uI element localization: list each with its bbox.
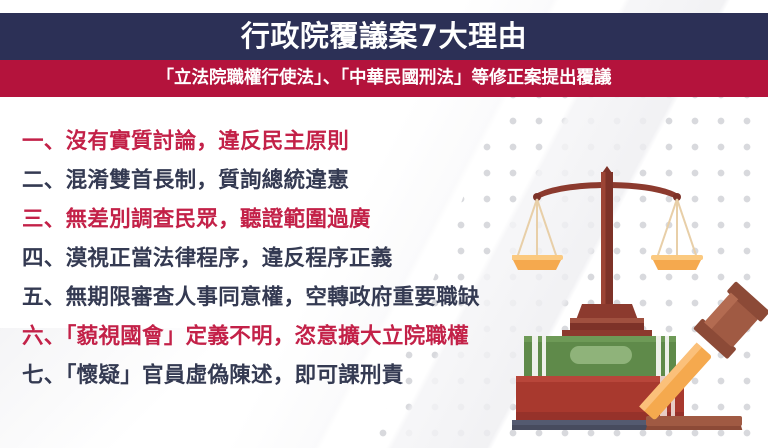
reasons-list: 一、沒有實質討論，違反民主原則 二、混淆雙首長制，質詢總統違憲 三、無差別調查民… (22, 122, 602, 395)
list-item: 五、無期限審查人事同意權，空轉政府重要職缺 (22, 278, 602, 317)
title-band: 行政院覆議案7大理由 (0, 13, 768, 60)
list-item: 七、「懷疑」官員虛偽陳述，即可課刑責 (22, 356, 602, 395)
reason-item-3-text: 三、無差別調查民眾，聽證範圍過廣 (22, 209, 371, 231)
infographic-root: 行政院覆議案7大理由 「立法院職權行使法」、「中華民國刑法」等修正案提出覆議 一… (0, 0, 768, 448)
list-item: 四、漠視正當法律程序，違反程序正義 (22, 239, 602, 278)
reason-item-7-text: 七、「懷疑」官員虛偽陳述，即可課刑責 (22, 365, 404, 387)
page-subtitle: 「立法院職權行使法」、「中華民國刑法」等修正案提出覆議 (157, 70, 612, 88)
subtitle-band: 「立法院職權行使法」、「中華民國刑法」等修正案提出覆議 (0, 60, 768, 97)
page-title: 行政院覆議案7大理由 (241, 22, 527, 51)
reason-item-6-text: 六、「藐視國會」定義不明，恣意擴大立院職權 (22, 326, 469, 348)
reason-item-2-text: 二、混淆雙首長制，質詢總統違憲 (22, 170, 349, 192)
list-item: 一、沒有實質討論，違反民主原則 (22, 122, 602, 161)
reason-item-1-text: 一、沒有實質討論，違反民主原則 (22, 131, 349, 153)
reason-item-5-text: 五、無期限審查人事同意權，空轉政府重要職缺 (22, 287, 480, 309)
list-item: 六、「藐視國會」定義不明，恣意擴大立院職權 (22, 317, 602, 356)
reason-item-4-text: 四、漠視正當法律程序，違反程序正義 (22, 248, 393, 270)
list-item: 三、無差別調查民眾，聽證範圍過廣 (22, 200, 602, 239)
list-item: 二、混淆雙首長制，質詢總統違憲 (22, 161, 602, 200)
